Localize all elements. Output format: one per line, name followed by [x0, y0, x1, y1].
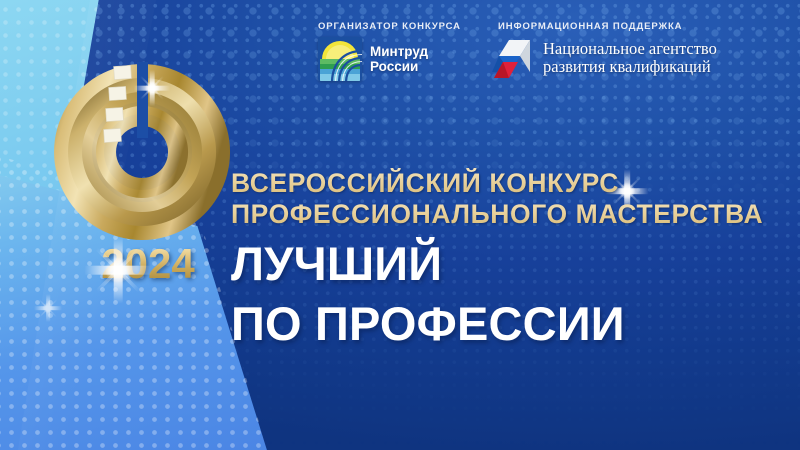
mintrud-name-line1: Минтруд [370, 44, 428, 59]
organizer-label: ОРГАНИЗАТОР КОНКУРСА [318, 21, 461, 32]
organizer-block: Минтруд России [318, 37, 428, 81]
year-label: 2024 [78, 240, 218, 288]
nark-name: Национальное агентство развития квалифик… [543, 40, 717, 77]
sparkle-icon [28, 288, 68, 328]
headline-gold-line1: ВСЕРОССИЙСКИЙ КОНКУРС [231, 168, 763, 199]
mintrud-name-line2: России [370, 59, 428, 74]
support-block: Национальное агентство развития квалифик… [492, 36, 717, 80]
nark-tricolor-arrow-logo-icon [492, 36, 534, 80]
headline-gold-line2: ПРОФЕССИОНАЛЬНОГО МАСТЕРСТВА [231, 199, 763, 230]
headline-white-line1: ЛУЧШИЙ [231, 239, 763, 290]
gold-concentric-arcs-emblem-icon [52, 62, 232, 247]
support-label: ИНФОРМАЦИОННАЯ ПОДДЕРЖКА [498, 21, 682, 32]
nark-name-line2: развития квалификаций [543, 58, 717, 76]
headline-block: ВСЕРОССИЙСКИЙ КОНКУРС ПРОФЕССИОНАЛЬНОГО … [231, 168, 763, 350]
nark-name-line1: Национальное агентство [543, 40, 717, 58]
mintrud-sun-field-logo-icon [318, 37, 362, 81]
mintrud-name: Минтруд России [370, 44, 428, 74]
headline-white-line2: ПО ПРОФЕССИИ [231, 299, 763, 350]
promo-banner: ОРГАНИЗАТОР КОНКУРСА ИНФОРМАЦИОННАЯ ПОДД… [0, 0, 800, 450]
